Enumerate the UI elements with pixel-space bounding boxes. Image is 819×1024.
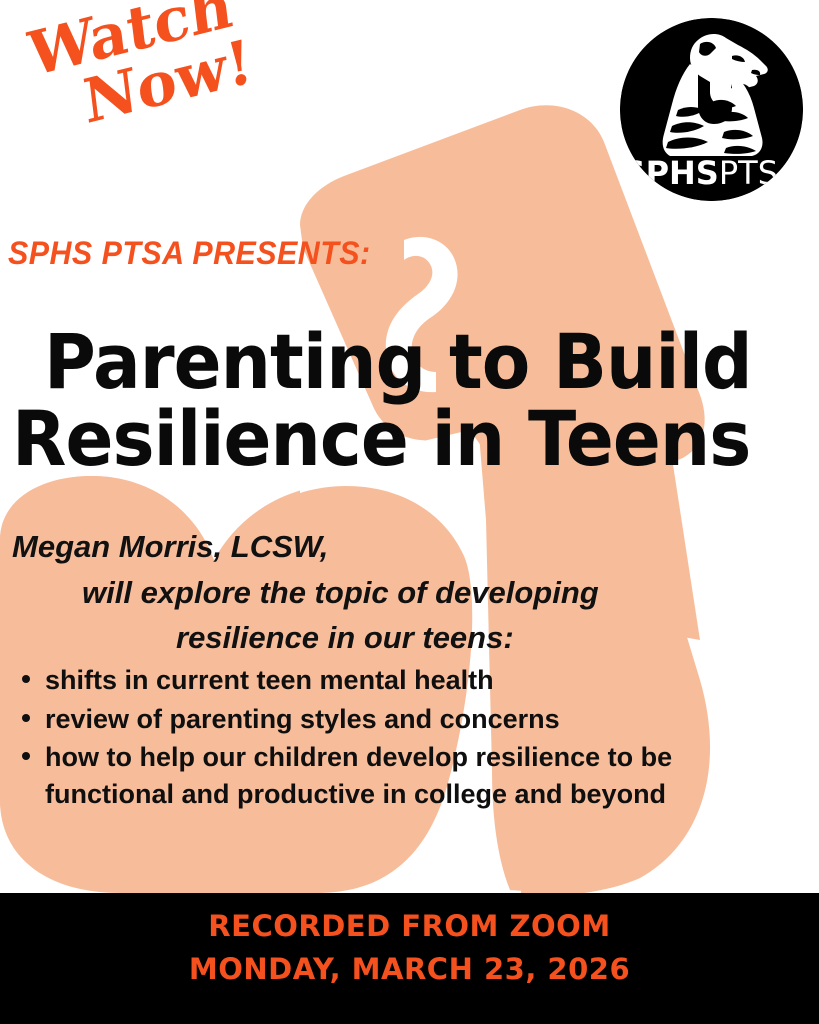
list-item: shifts in current teen mental health xyxy=(20,662,720,699)
list-item-label: review of parenting styles and concerns xyxy=(45,704,560,734)
speaker-intro-line-2: will explore the topic of developing xyxy=(82,570,708,616)
footer-line-date: MONDAY, MARCH 23, 2026 xyxy=(0,943,819,986)
footer-banner: RECORDED FROM ZOOM MONDAY, MARCH 23, 202… xyxy=(0,893,819,1024)
flyer-poster: SPHSPTSA Watch Now! SPHS PTSA PRESENTS: … xyxy=(0,0,819,1024)
title-line-1: Parenting to Build xyxy=(44,323,756,401)
logo-text-ptsa: PTSA xyxy=(719,154,801,192)
bullet-dot-icon xyxy=(22,675,30,683)
speaker-intro-line-3: resilience in our teens: xyxy=(176,615,708,661)
speaker-intro: Megan Morris, LCSW, will explore the top… xyxy=(8,524,708,661)
bullet-dot-icon xyxy=(22,752,30,760)
title-line-2: Resilience in Teens xyxy=(12,400,754,478)
list-item-label: how to help our children develop resilie… xyxy=(45,742,672,809)
bullet-dot-icon xyxy=(22,714,30,722)
watch-now-callout: Watch Now! xyxy=(22,0,259,142)
svg-text:SPHSPTSA: SPHSPTSA xyxy=(623,154,801,192)
page-title: Parenting to Build Resilience in Teens xyxy=(10,323,810,478)
list-item-label: shifts in current teen mental health xyxy=(45,665,494,695)
speaker-name-line: Megan Morris, LCSW, xyxy=(12,524,708,570)
tiger-head-icon: SPHSPTSA xyxy=(620,18,803,201)
presents-kicker: SPHS PTSA PRESENTS: xyxy=(8,235,371,272)
footer-line-recorded: RECORDED FROM ZOOM xyxy=(0,893,819,943)
topic-list: shifts in current teen mental health rev… xyxy=(20,662,720,815)
list-item: review of parenting styles and concerns xyxy=(20,701,720,738)
list-item: how to help our children develop resilie… xyxy=(20,739,720,812)
sphs-ptsa-logo-badge: SPHSPTSA xyxy=(620,18,803,201)
logo-text-sphs: SPHS xyxy=(623,154,719,192)
